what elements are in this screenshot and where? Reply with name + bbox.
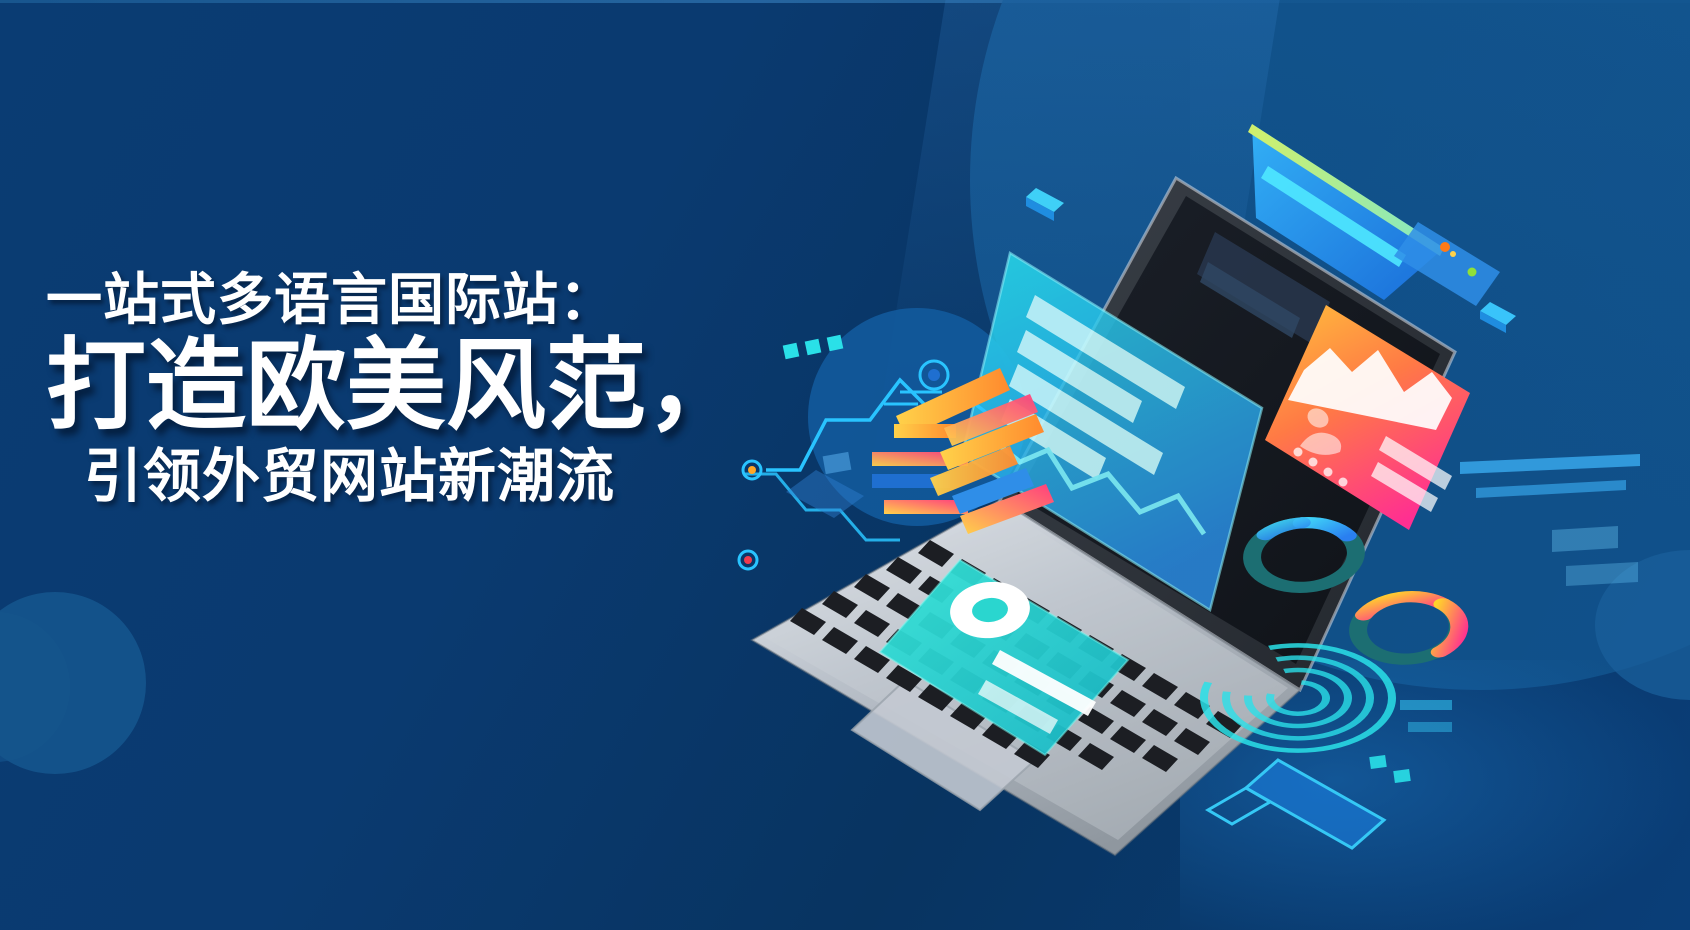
donut-chart-2 (1356, 593, 1461, 662)
area-chart (1288, 348, 1452, 430)
donut-chart-1 (1250, 519, 1358, 591)
light-beam-decoration (846, 0, 1285, 681)
status-dot-orange (1440, 242, 1450, 252)
progress-bar (992, 650, 1096, 716)
headline-block: 一站式多语言国际站： 打造欧美风范， 引领外贸网站新潮流 (46, 268, 806, 510)
card-text-bars (1001, 295, 1185, 480)
headline-line-3: 引领外贸网站新潮流 (84, 444, 806, 510)
corner-gradient-decoration (1190, 0, 1690, 780)
top-hairline-divider (0, 0, 1690, 3)
blob-right-edge (1595, 550, 1690, 700)
bar-chart-group (930, 394, 1054, 534)
laptop-lid (1000, 178, 1455, 690)
usb-plug-icon (1208, 700, 1452, 848)
small-cube-top (1026, 188, 1064, 221)
bar-highlight (896, 368, 1010, 438)
headline-line-1: 一站式多语言国际站： (46, 268, 806, 332)
dot-row (1294, 448, 1348, 487)
stacked-bars (872, 424, 968, 514)
analytics-card (962, 253, 1262, 610)
node-dot-red (744, 556, 752, 564)
laptop-keyboard (790, 540, 1242, 772)
top-strip-card (1248, 124, 1444, 300)
laptop-base (752, 500, 1300, 855)
card-text-bars (1371, 436, 1452, 512)
accent-squares-left (823, 452, 852, 474)
small-cube-right (1480, 302, 1516, 333)
target-icon (884, 361, 948, 404)
corner-arc-decoration (970, 0, 1690, 690)
person-avatar (1300, 405, 1341, 455)
ring-icon (947, 578, 1032, 642)
line-chart (988, 436, 1204, 534)
status-dot-green (1468, 268, 1477, 277)
radar-arcs (1189, 637, 1407, 759)
blob-bottom-left-back (0, 612, 70, 762)
bottom-glow-decoration (1180, 660, 1690, 930)
profile-card (1265, 305, 1470, 530)
headline-line-2: 打造欧美风范， (46, 334, 806, 438)
light-streaks (1460, 454, 1640, 586)
screen-inner-widgets (1197, 232, 1330, 344)
right-strip-card (1394, 222, 1516, 333)
blob-bottom-left (0, 592, 146, 774)
keyboard-overlay-card (880, 560, 1128, 755)
hero-banner: 一站式多语言国际站： 打造欧美风范， 引领外贸网站新潮流 (0, 0, 1690, 930)
circuit-backdrop-circle (808, 308, 1026, 526)
